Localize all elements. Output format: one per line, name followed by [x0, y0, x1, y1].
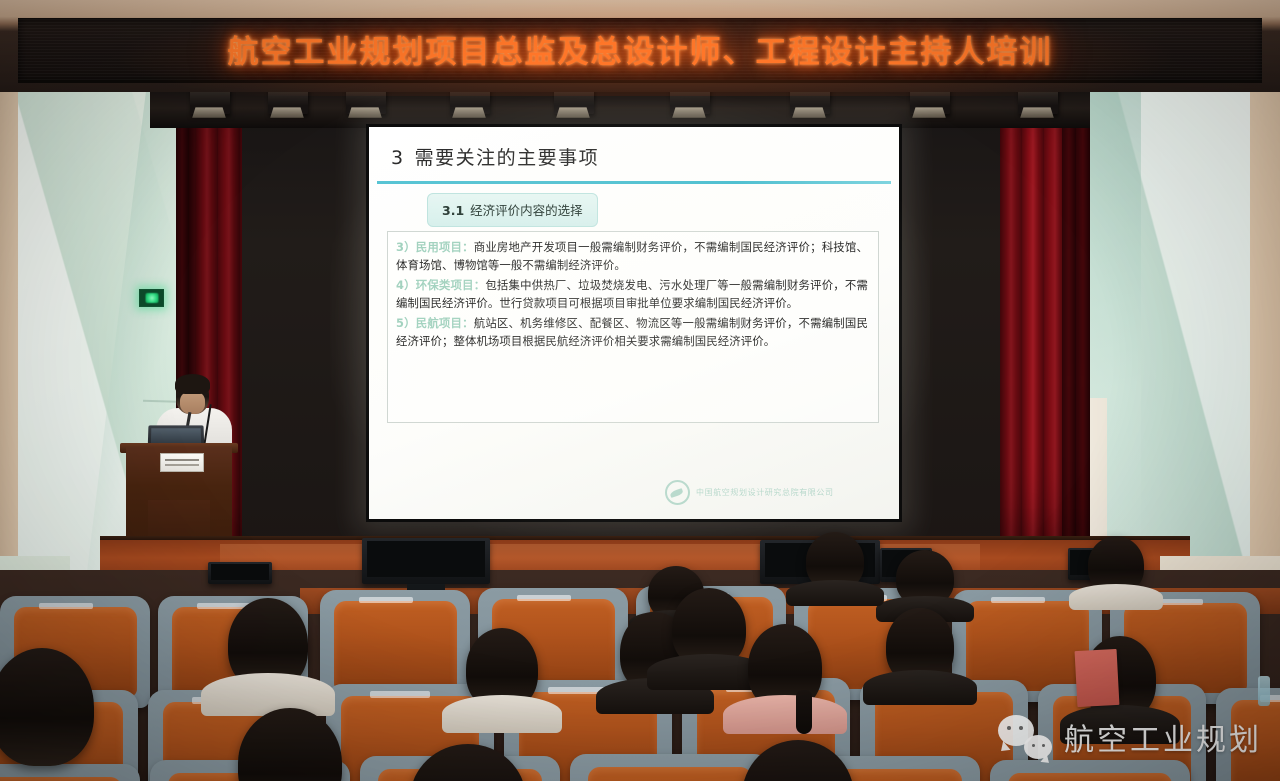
stage-curtain-right-outer — [1062, 88, 1090, 558]
seat — [990, 760, 1190, 781]
water-bottle — [1258, 676, 1270, 706]
slide-title-rule — [377, 181, 891, 184]
wechat-icon — [998, 715, 1052, 759]
projection-screen: 3需要关注的主要事项 3.1经济评价内容的选择 3）民用项目：商业房地产开发项目… — [366, 124, 902, 522]
led-banner: 航空工业规划项目总监及总设计师、工程设计主持人培训 — [18, 18, 1262, 83]
company-logo-icon — [665, 480, 690, 505]
list-item: 4）环保类项目：包括集中供热厂、垃圾焚烧发电、污水处理厂等一般需编制财务评价，不… — [396, 276, 868, 313]
desk-monitor — [208, 562, 272, 584]
audience-hair — [796, 690, 812, 734]
slide-subtitle-text: 经济评价内容的选择 — [470, 203, 583, 218]
list-item: 3）民用项目：商业房地产开发项目一般需编制财务评价，不需编制国民经济评价；科技馆… — [396, 238, 868, 275]
audience-head — [228, 598, 308, 690]
slide-title-number: 3 — [391, 147, 405, 169]
audience-head — [896, 550, 954, 606]
audience-head — [806, 532, 864, 590]
desk-monitor — [362, 538, 490, 584]
right-acoustic-wall-panel — [1062, 58, 1250, 603]
slide-body-box: 3）民用项目：商业房地产开发项目一般需编制财务评价，不需编制国民经济评价；科技馆… — [387, 231, 879, 423]
audience-head — [672, 588, 746, 668]
led-banner-text: 航空工业规划项目总监及总设计师、工程设计主持人培训 — [18, 27, 1262, 72]
slide-logo-text: 中国航空规划设计研究总院有限公司 — [696, 487, 834, 498]
presenter-hair — [175, 374, 210, 394]
presentation-slide: 3需要关注的主要事项 3.1经济评价内容的选择 3）民用项目：商业房地产开发项目… — [369, 127, 899, 519]
list-item: 5）民航项目：航站区、机务维修区、配餐区、物流区等一般需编制财务评价，不需编制国… — [396, 314, 868, 351]
audience-head — [886, 608, 954, 684]
slide-body-list: 3）民用项目：商业房地产开发项目一般需编制财务评价，不需编制国民经济评价；科技馆… — [396, 238, 868, 351]
slide-title-text: 需要关注的主要事项 — [415, 147, 600, 169]
slide-subtitle-number: 3.1 — [442, 203, 464, 218]
wechat-watermark: 航空工业规划 — [998, 715, 1262, 759]
list-item-lead: 4）环保类项目： — [396, 278, 485, 292]
podium-nameplate — [160, 453, 204, 472]
slide-subtitle-chip: 3.1经济评价内容的选择 — [427, 193, 598, 227]
wechat-account-name: 航空工业规划 — [1064, 715, 1262, 759]
audience-head — [0, 648, 94, 766]
audience-head — [1088, 536, 1144, 594]
audience-head — [466, 628, 538, 710]
slide-title: 3需要关注的主要事项 — [391, 143, 599, 170]
red-card — [1075, 649, 1120, 707]
auditorium-photo: 3需要关注的主要事项 3.1经济评价内容的选择 3）民用项目：商业房地产开发项目… — [0, 0, 1280, 781]
slide-company-logo: 中国航空规划设计研究总院有限公司 — [665, 480, 834, 505]
seat — [570, 754, 770, 781]
seat — [0, 764, 140, 781]
presenter-face — [180, 391, 205, 414]
list-item-lead: 5）民航项目： — [396, 316, 474, 330]
emergency-exit-sign — [139, 289, 164, 307]
exit-icon — [145, 293, 158, 303]
list-item-lead: 3）民用项目： — [396, 240, 474, 254]
